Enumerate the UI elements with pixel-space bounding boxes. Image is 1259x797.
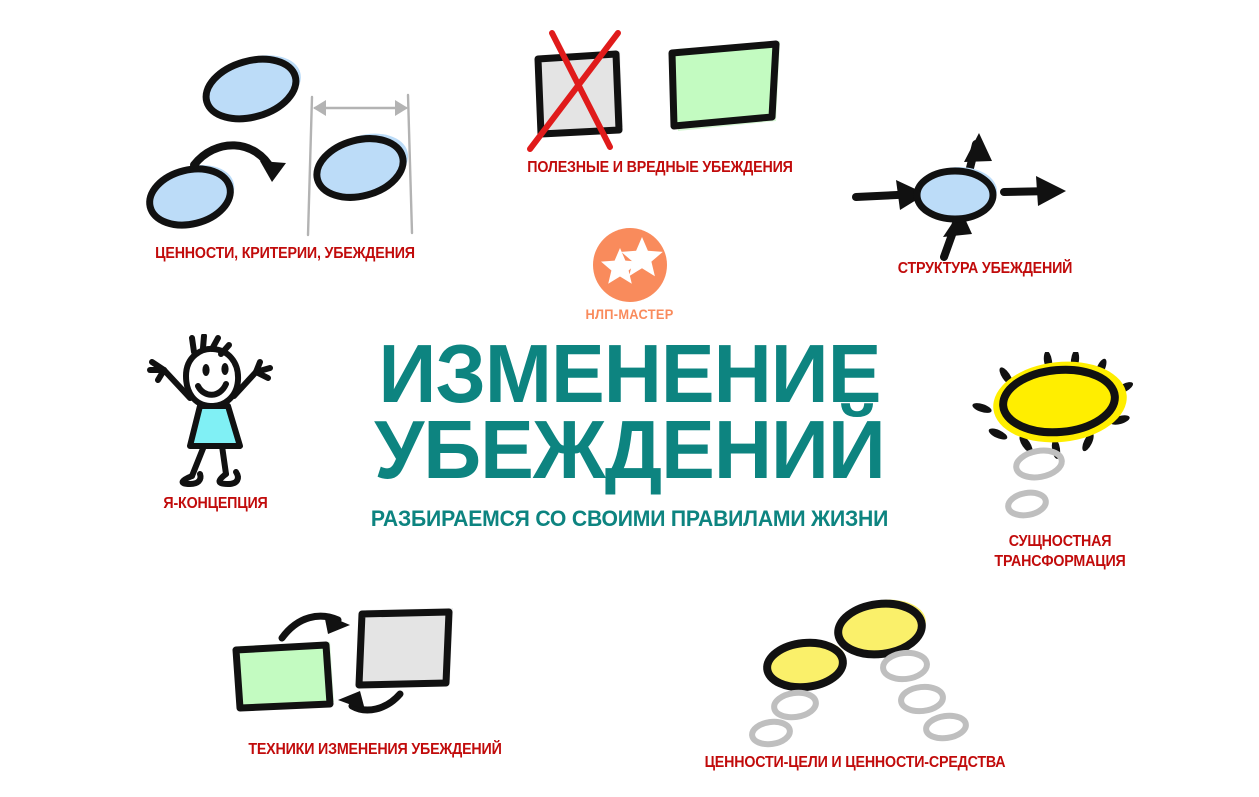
page-title: ИЗМЕНЕНИЕ УБЕЖДЕНИЙ	[19, 336, 1240, 489]
brand-logo[interactable]: НЛП-МАСТЕР	[0, 228, 1259, 336]
page-subtitle: РАЗБИРАЕМСЯ СО СВОИМИ ПРАВИЛАМИ ЖИЗНИ	[38, 506, 1221, 532]
two-squares-cycle-arrows-icon	[210, 600, 540, 740]
topic-end-values-and-means-values[interactable]: ЦЕННОСТИ-ЦЕЛИ И ЦЕННОСТИ-СРЕДСТВА	[660, 595, 1050, 780]
caption-belief-change-techniques: ТЕХНИКИ ИЗМЕНЕНИЯ УБЕЖДЕНИЙ	[223, 740, 527, 760]
topic-useful-harmful-beliefs[interactable]: ПОЛЕЗНЫЕ И ВРЕДНЫЕ УБЕЖДЕНИЯ	[490, 25, 830, 185]
brand-name: НЛП-МАСТЕР	[31, 307, 1227, 322]
page-title-line-2: УБЕЖДЕНИЙ	[19, 412, 1240, 488]
caption-useful-harmful-beliefs: ПОЛЕЗНЫЕ И ВРЕДНЫЕ УБЕЖДЕНИЯ	[504, 158, 817, 178]
caption-line-1: СУЩНОСТНАЯ	[968, 532, 1152, 552]
two-stars-circle-logo-icon	[593, 228, 667, 302]
centre-block: НЛП-МАСТЕР ИЗМЕНЕНИЕ УБЕЖДЕНИЙ РАЗБИРАЕМ…	[0, 228, 1259, 532]
page-title-line-1: ИЗМЕНЕНИЕ	[19, 336, 1240, 412]
poster-canvas: ЦЕННОСТИ, КРИТЕРИИ, УБЕЖДЕНИЯ ПОЛЕЗНЫЕ И…	[0, 0, 1259, 797]
blue-ellipses-arrow-measure-icon	[120, 50, 450, 240]
caption-line-2: ТРАНСФОРМАЦИЯ	[968, 552, 1152, 572]
caption-end-values-and-means-values: ЦЕННОСТИ-ЦЕЛИ И ЦЕННОСТИ-СРЕДСТВА	[676, 753, 1035, 773]
topic-belief-change-techniques[interactable]: ТЕХНИКИ ИЗМЕНЕНИЯ УБЕЖДЕНИЙ	[210, 600, 540, 775]
crossed-grey-square-and-green-square-icon	[490, 25, 830, 165]
two-yellow-ellipses-trail-icon	[660, 595, 1050, 755]
caption-core-transformation: СУЩНОСТНАЯ ТРАНСФОРМАЦИЯ	[968, 532, 1152, 573]
